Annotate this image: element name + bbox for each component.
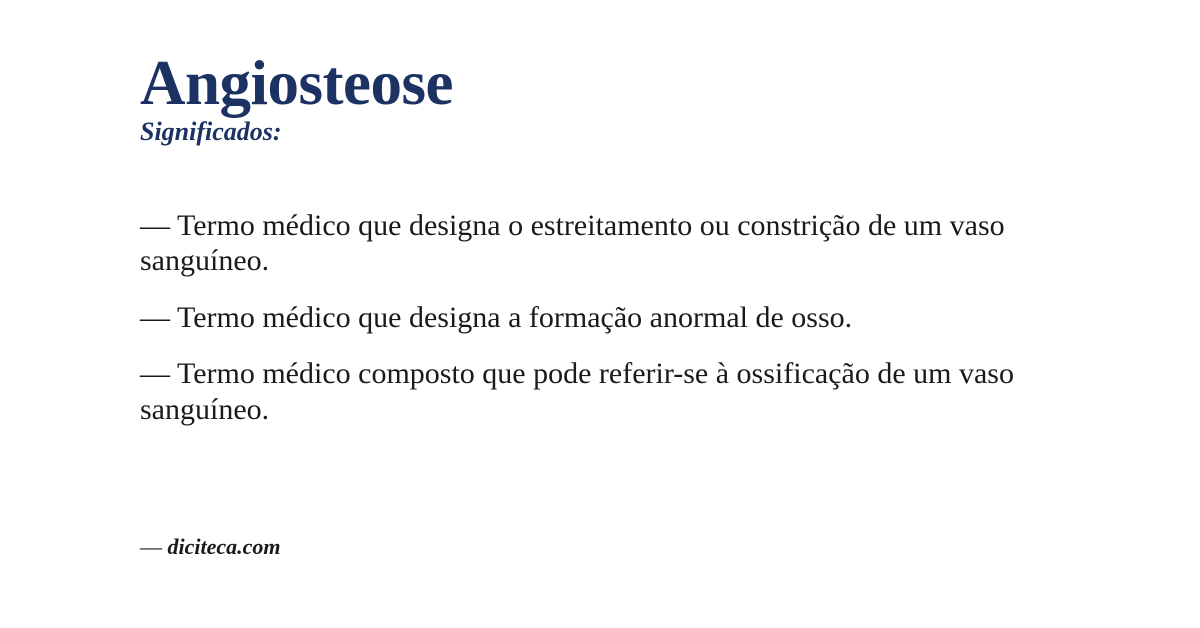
list-item: — Termo médico composto que pode referir… [140, 356, 1020, 427]
em-dash-marker: — [140, 357, 170, 390]
list-item: — Termo médico que designa o estreitamen… [140, 208, 1020, 279]
page-title: Angiosteose [140, 52, 1140, 115]
definition-text: Termo médico que designa a formação anor… [177, 301, 852, 334]
list-item: — Termo médico que designa a formação an… [140, 300, 1020, 335]
em-dash-marker: — [140, 301, 170, 334]
entry-subtitle: Significados: [140, 117, 1140, 147]
definition-text: Termo médico que designa o estreitamento… [140, 209, 1005, 277]
source-attribution: — diciteca.com [140, 534, 281, 560]
entry-header: Angiosteose Significados: [140, 52, 1140, 147]
em-dash-marker: — [140, 209, 170, 242]
definitions-list: — Termo médico que designa o estreitamen… [140, 208, 1020, 427]
source-name: diciteca.com [168, 534, 281, 559]
dash-marker: — [140, 534, 162, 559]
dictionary-entry-card: Angiosteose Significados: — Termo médico… [0, 0, 1200, 628]
definition-text: Termo médico composto que pode referir-s… [140, 357, 1014, 425]
